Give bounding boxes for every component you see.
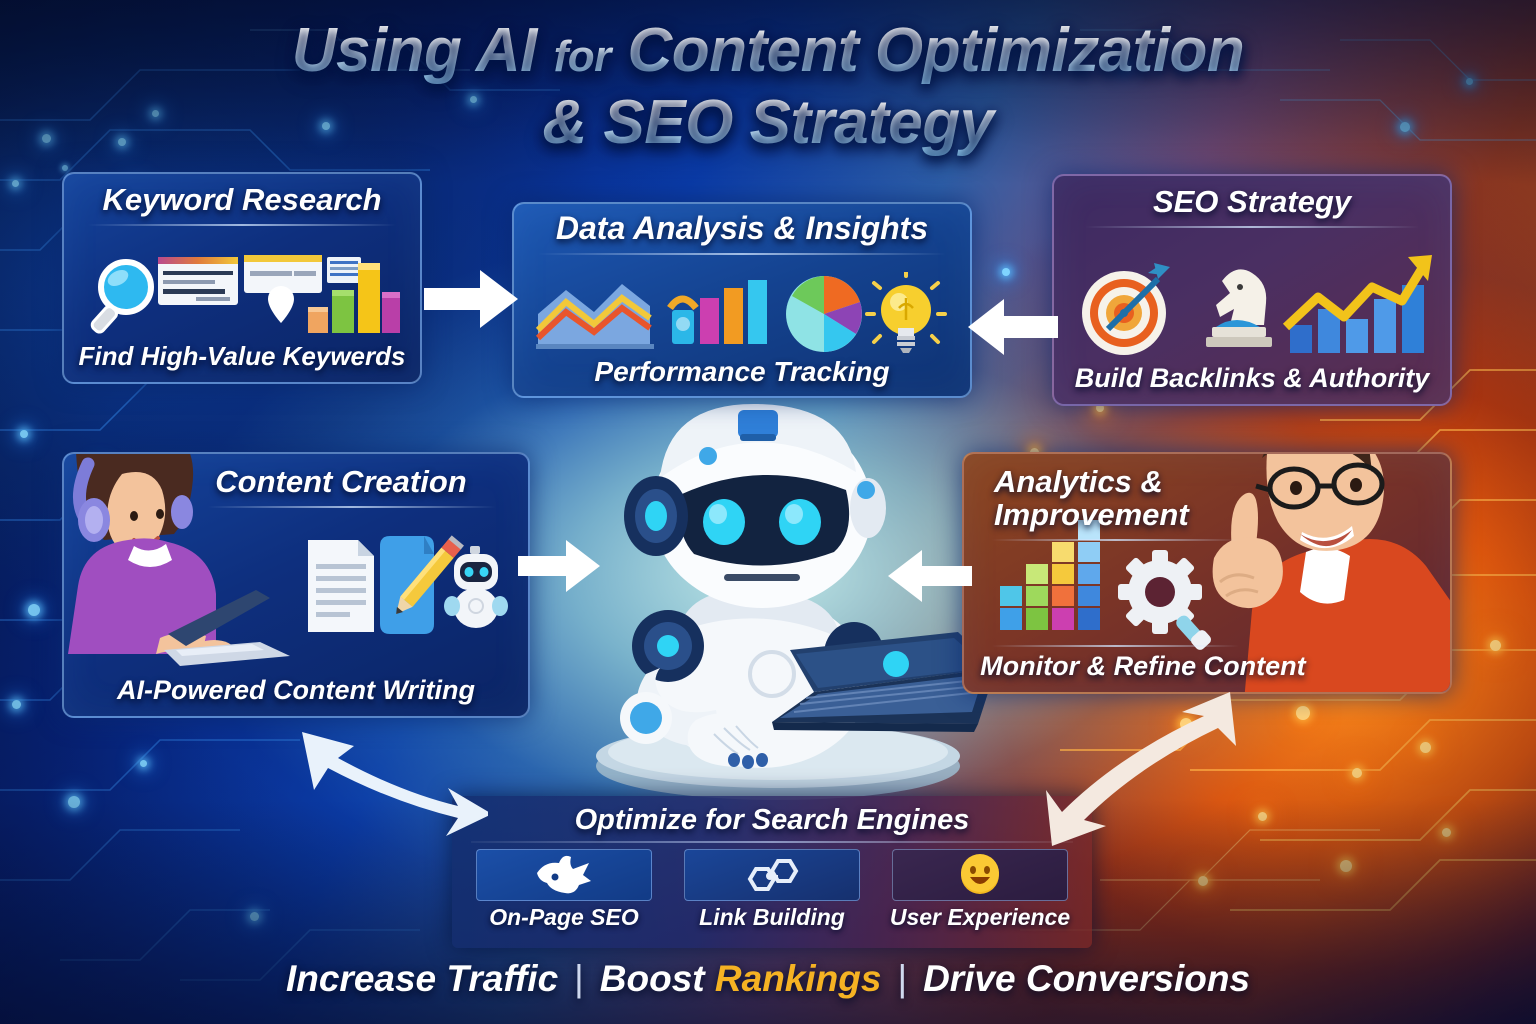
arrow-bottom-to-analytics (1032, 690, 1262, 850)
panel-item-link-building[interactable]: Link Building (674, 849, 870, 931)
card-seo-strategy-subtitle: Build Backlinks & Authority (1075, 363, 1430, 394)
on-page-seo-label: On-Page SEO (489, 904, 639, 931)
title-part-for: for (554, 32, 611, 81)
gear-magnifier-icon (1118, 550, 1213, 652)
card-content-creation[interactable]: Content Creation AI-Powered Content Writ… (62, 452, 530, 718)
pencil-note-icon (380, 535, 464, 634)
panel-item-user-experience[interactable]: User Experience (882, 849, 1078, 931)
divider (471, 841, 1073, 843)
arrow-seo-to-data (968, 298, 1058, 356)
user-experience-label: User Experience (890, 904, 1070, 931)
title-part-a: Using AI (292, 16, 554, 85)
search-result-list-icon (158, 255, 361, 305)
arrow-bottom-to-content (294, 722, 488, 842)
arrow-content-to-robot (518, 538, 602, 594)
card-seo-strategy-title: SEO Strategy (1153, 186, 1351, 219)
target-dart-icon (1082, 263, 1170, 355)
page-title: Using AI for Content Optimization & SEO … (0, 18, 1536, 156)
document-icon (308, 540, 374, 632)
lightbulb-icon (867, 272, 945, 353)
card-seo-strategy-icons (1072, 232, 1432, 363)
chain-link-icon (740, 855, 804, 895)
bar-chart-icon (670, 280, 767, 344)
footer-item-increase-traffic: Increase Traffic (286, 958, 558, 999)
location-pin-icon (268, 286, 294, 323)
link-building-label: Link Building (699, 904, 845, 931)
divider (992, 645, 1239, 647)
card-analytics-subtitle: Monitor & Refine Content (978, 651, 1308, 682)
footer-item-boost-plain: Boost (600, 958, 715, 999)
stacked-bar-icon (1000, 520, 1100, 630)
card-analytics-improvement[interactable]: Analytics & Improvement Monitor & Refine… (962, 452, 1452, 694)
divider (1085, 226, 1420, 228)
card-content-creation-subtitle: AI-Powered Content Writing (117, 675, 475, 706)
footer-item-rankings-highlight: Rankings (715, 958, 882, 999)
panel-item-on-page-seo[interactable]: On-Page SEO (466, 849, 662, 931)
magnifier-icon (90, 262, 151, 334)
title-line-2: & SEO Strategy (0, 90, 1536, 156)
optimize-panel[interactable]: Optimize for Search Engines On-Page SEO (452, 796, 1092, 948)
growth-chart-icon (1286, 255, 1432, 353)
title-part-b: Content Optimization (611, 16, 1245, 85)
card-data-analysis-subtitle: Performance Tracking (594, 356, 889, 388)
on-page-seo-tile[interactable] (476, 849, 652, 901)
pie-chart-icon (786, 276, 862, 352)
divider (538, 253, 945, 255)
chess-knight-icon (1206, 269, 1272, 347)
footer-separator-2: | (881, 958, 923, 999)
card-keyword-research-title: Keyword Research (102, 184, 381, 217)
divider (88, 224, 396, 226)
link-building-tile[interactable] (684, 849, 860, 901)
card-keyword-research-subtitle: Find High-Value Keywerds (79, 341, 406, 372)
small-robot-icon (444, 546, 508, 628)
card-analytics-title-line2: Improvement (994, 499, 1189, 532)
card-keyword-research-icons (82, 230, 402, 341)
card-analytics-title-line1: Analytics & (994, 466, 1163, 499)
title-line-1: Using AI for Content Optimization (0, 18, 1536, 90)
card-content-creation-title: Content Creation (215, 466, 466, 499)
card-data-analysis-title: Data Analysis & Insights (556, 212, 928, 246)
footer-separator-1: | (558, 958, 600, 999)
card-data-analysis-icons (532, 259, 952, 356)
divider (208, 506, 496, 508)
smiley-face-icon (958, 853, 1002, 897)
area-chart-icon (536, 284, 654, 349)
card-keyword-research[interactable]: Keyword Research (62, 172, 422, 384)
card-data-analysis[interactable]: Data Analysis & Insights (512, 202, 972, 398)
divider (992, 539, 1239, 541)
footer-tagline: Increase Traffic|Boost Rankings|Drive Co… (0, 958, 1536, 1000)
optimize-panel-title: Optimize for Search Engines (575, 804, 970, 837)
footer-item-drive-conversions: Drive Conversions (923, 958, 1250, 999)
infographic-canvas: Using AI for Content Optimization & SEO … (0, 0, 1536, 1024)
card-seo-strategy[interactable]: SEO Strategy (1052, 174, 1452, 406)
seo-tag-icon (533, 855, 595, 895)
arrow-keyword-to-data (424, 268, 520, 330)
arrow-analytics-to-robot (886, 548, 972, 604)
user-experience-tile[interactable] (892, 849, 1068, 901)
optimize-panel-items: On-Page SEO Link Building (452, 849, 1092, 931)
